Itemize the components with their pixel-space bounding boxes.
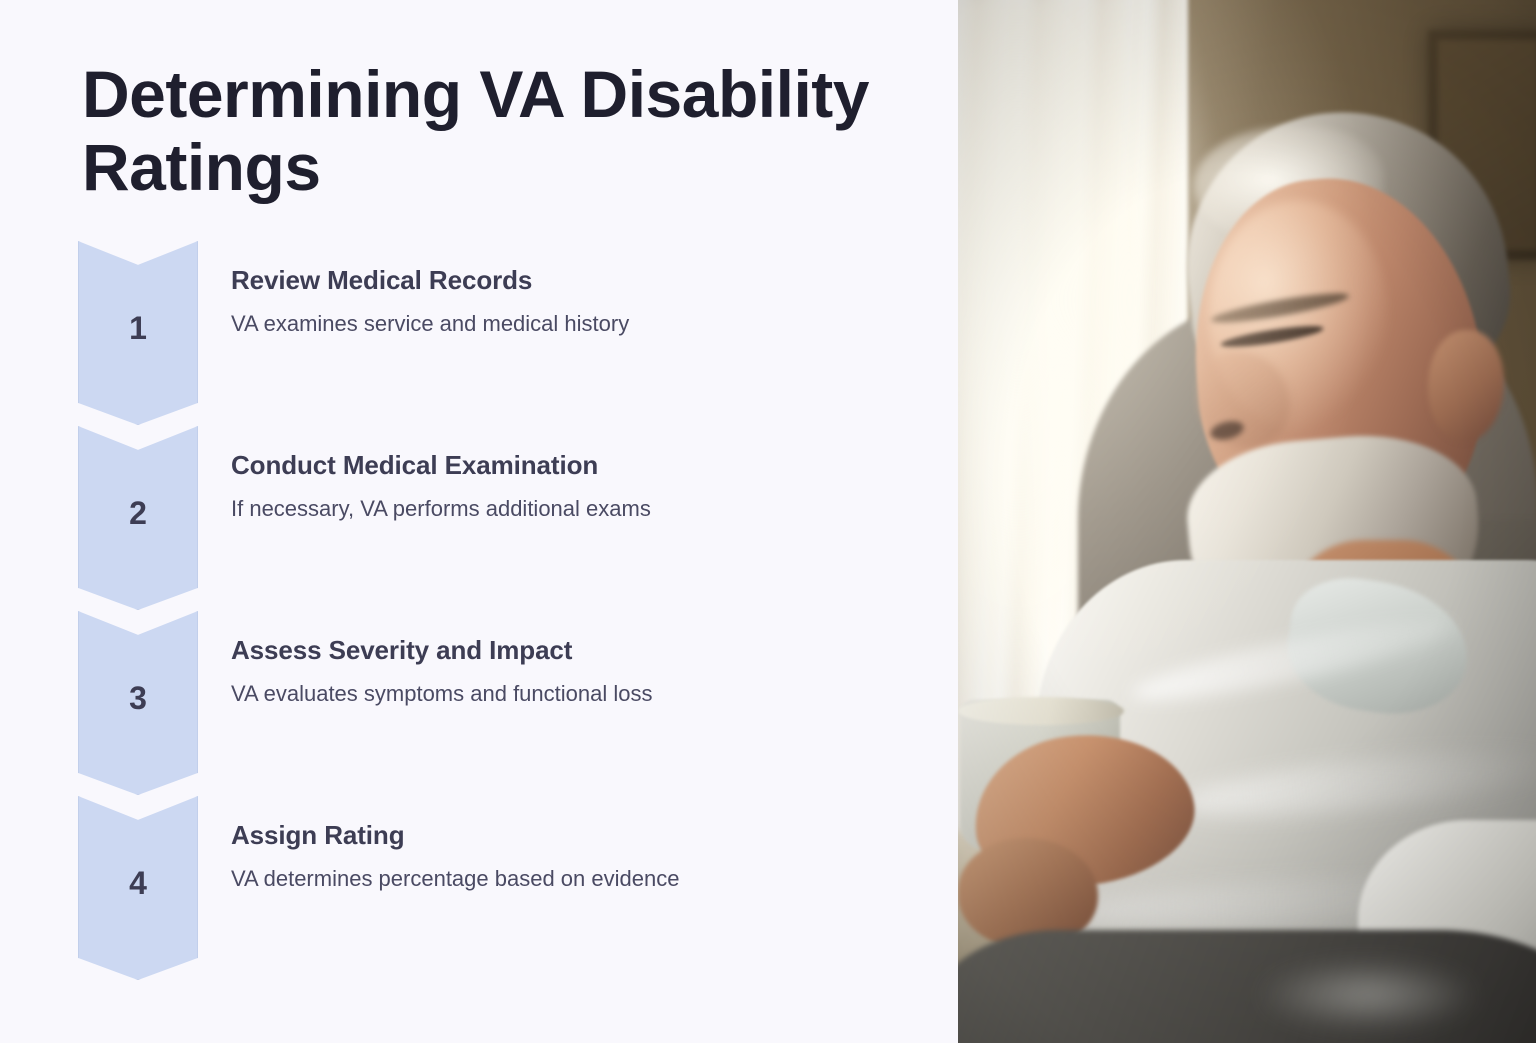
step-description: If necessary, VA performs additional exa…	[231, 495, 911, 524]
step-chevron-marker: 3	[78, 611, 198, 795]
step-item: 2 Conduct Medical Examination If necessa…	[0, 426, 958, 611]
step-chevron-marker: 1	[78, 241, 198, 425]
step-item: 4 Assign Rating VA determines percentage…	[0, 796, 958, 981]
step-chevron-marker: 4	[78, 796, 198, 980]
step-title: Conduct Medical Examination	[231, 450, 911, 481]
step-chevron-marker: 2	[78, 426, 198, 610]
step-text-block: Assess Severity and Impact VA evaluates …	[231, 635, 911, 709]
step-number: 3	[129, 682, 147, 714]
photo-mug-rim	[958, 697, 1124, 725]
step-number: 2	[129, 497, 147, 529]
step-title: Review Medical Records	[231, 265, 911, 296]
elderly-man-photo	[958, 0, 1536, 1043]
step-description: VA determines percentage based on eviden…	[231, 865, 911, 894]
step-title: Assign Rating	[231, 820, 911, 851]
steps-list: 1 Review Medical Records VA examines ser…	[0, 241, 958, 981]
step-text-block: Assign Rating VA determines percentage b…	[231, 820, 911, 894]
step-title: Assess Severity and Impact	[231, 635, 911, 666]
step-item: 3 Assess Severity and Impact VA evaluate…	[0, 611, 958, 796]
slide-root: Determining VA Disability Ratings 1 Revi…	[0, 0, 1536, 1043]
step-item: 1 Review Medical Records VA examines ser…	[0, 241, 958, 426]
content-panel: Determining VA Disability Ratings 1 Revi…	[0, 0, 958, 1043]
step-description: VA examines service and medical history	[231, 310, 911, 339]
step-text-block: Review Medical Records VA examines servi…	[231, 265, 911, 339]
step-number: 4	[129, 867, 147, 899]
step-number: 1	[129, 312, 147, 344]
step-description: VA evaluates symptoms and functional los…	[231, 680, 911, 709]
page-title: Determining VA Disability Ratings	[82, 58, 872, 203]
photo-trousers-sheen	[1258, 960, 1478, 1030]
step-text-block: Conduct Medical Examination If necessary…	[231, 450, 911, 524]
photo-panel	[958, 0, 1536, 1043]
